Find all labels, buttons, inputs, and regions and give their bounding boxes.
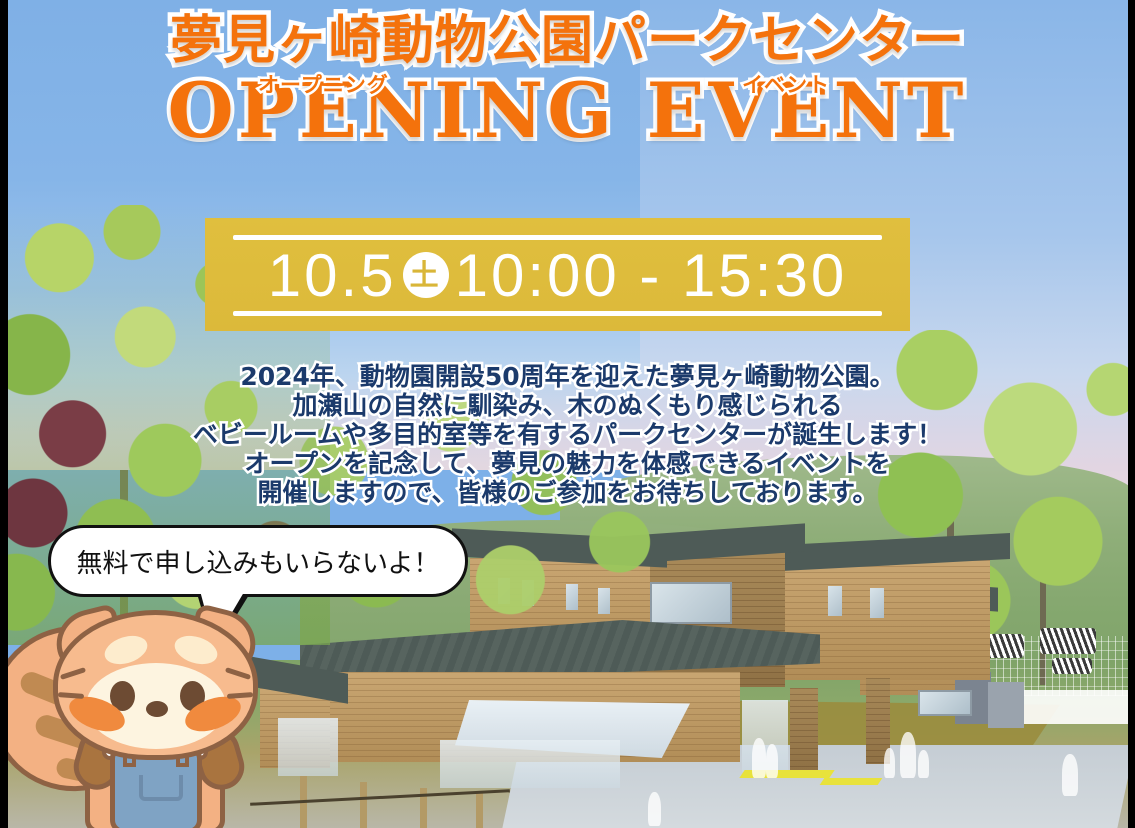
description-line-2: 加瀬山の自然に馴染み、木のぬくもり感じられる — [0, 391, 1135, 420]
mascot-whisker — [60, 667, 86, 680]
date-time-line: 10.5 土 10:00 - 15:30 — [205, 244, 910, 306]
speech-bubble-text: 無料で申し込みもいらないよ！ — [77, 543, 440, 580]
zebra — [1052, 658, 1092, 674]
person-silhouette — [884, 748, 895, 778]
speech-bubble: 無料で申し込みもいらないよ！ — [48, 525, 468, 597]
banner-rule-top — [233, 235, 882, 240]
concrete-block — [988, 682, 1024, 728]
date-time-banner: 10.5 土 10:00 - 15:30 — [205, 218, 910, 331]
guide-path — [820, 778, 883, 785]
right-border — [1128, 0, 1135, 828]
page-title-english-row: オープニング イベント OPENING EVENT — [0, 73, 1135, 157]
window — [828, 586, 842, 616]
fence-post — [360, 782, 367, 828]
person-silhouette — [648, 792, 661, 826]
red-panda-mascot — [0, 608, 290, 828]
weekday-badge: 土 — [403, 252, 449, 298]
banner-rule-bottom — [233, 311, 882, 316]
left-border — [0, 0, 8, 828]
ruby-opening: オープニング — [258, 69, 389, 99]
description-line-4: オープンを記念して、夢見の魅力を体感できるイベントを — [0, 449, 1135, 478]
mascot-whisker — [225, 667, 251, 680]
zebra — [1040, 628, 1096, 654]
description-line-5: 開催しますので、皆様のご参加をお待ちしております。 — [0, 478, 1135, 507]
mascot-nose — [146, 701, 168, 717]
event-poster: 夢見ヶ崎動物公園パークセンター オープニング イベント OPENING EVEN… — [0, 0, 1135, 828]
person-silhouette — [766, 744, 778, 778]
description-line-1: 2024年、動物園開設50周年を迎えた夢見ヶ崎動物公園。 — [0, 362, 1135, 391]
entry-column — [790, 688, 818, 770]
mascot-overall-pocket — [139, 775, 183, 801]
mascot-whisker — [58, 692, 84, 699]
mascot-whisker — [227, 692, 253, 699]
event-time-range: 10:00 - 15:30 — [455, 241, 848, 310]
person-silhouette — [1062, 754, 1078, 796]
person-silhouette — [900, 732, 916, 778]
description-block: 2024年、動物園開設50周年を迎えた夢見ヶ崎動物公園。 加瀬山の自然に馴染み、… — [0, 362, 1135, 507]
mascot-overalls — [110, 748, 202, 828]
description-line-3: ベビールームや多目的室等を有するパークセンターが誕生します！ — [0, 420, 1135, 449]
fence-post — [476, 792, 483, 828]
poster-header: 夢見ヶ崎動物公園パークセンター オープニング イベント OPENING EVEN… — [0, 14, 1135, 157]
mascot-head — [53, 610, 258, 760]
page-title-japanese: 夢見ヶ崎動物公園パークセンター — [170, 14, 965, 69]
window — [870, 588, 884, 618]
mascot-brow-right — [171, 631, 221, 669]
person-silhouette — [918, 750, 929, 778]
storefront-glazing — [440, 740, 620, 788]
window — [918, 690, 972, 716]
ruby-event: イベント — [742, 69, 830, 99]
event-date: 10.5 — [268, 241, 397, 310]
person-silhouette — [752, 738, 766, 778]
